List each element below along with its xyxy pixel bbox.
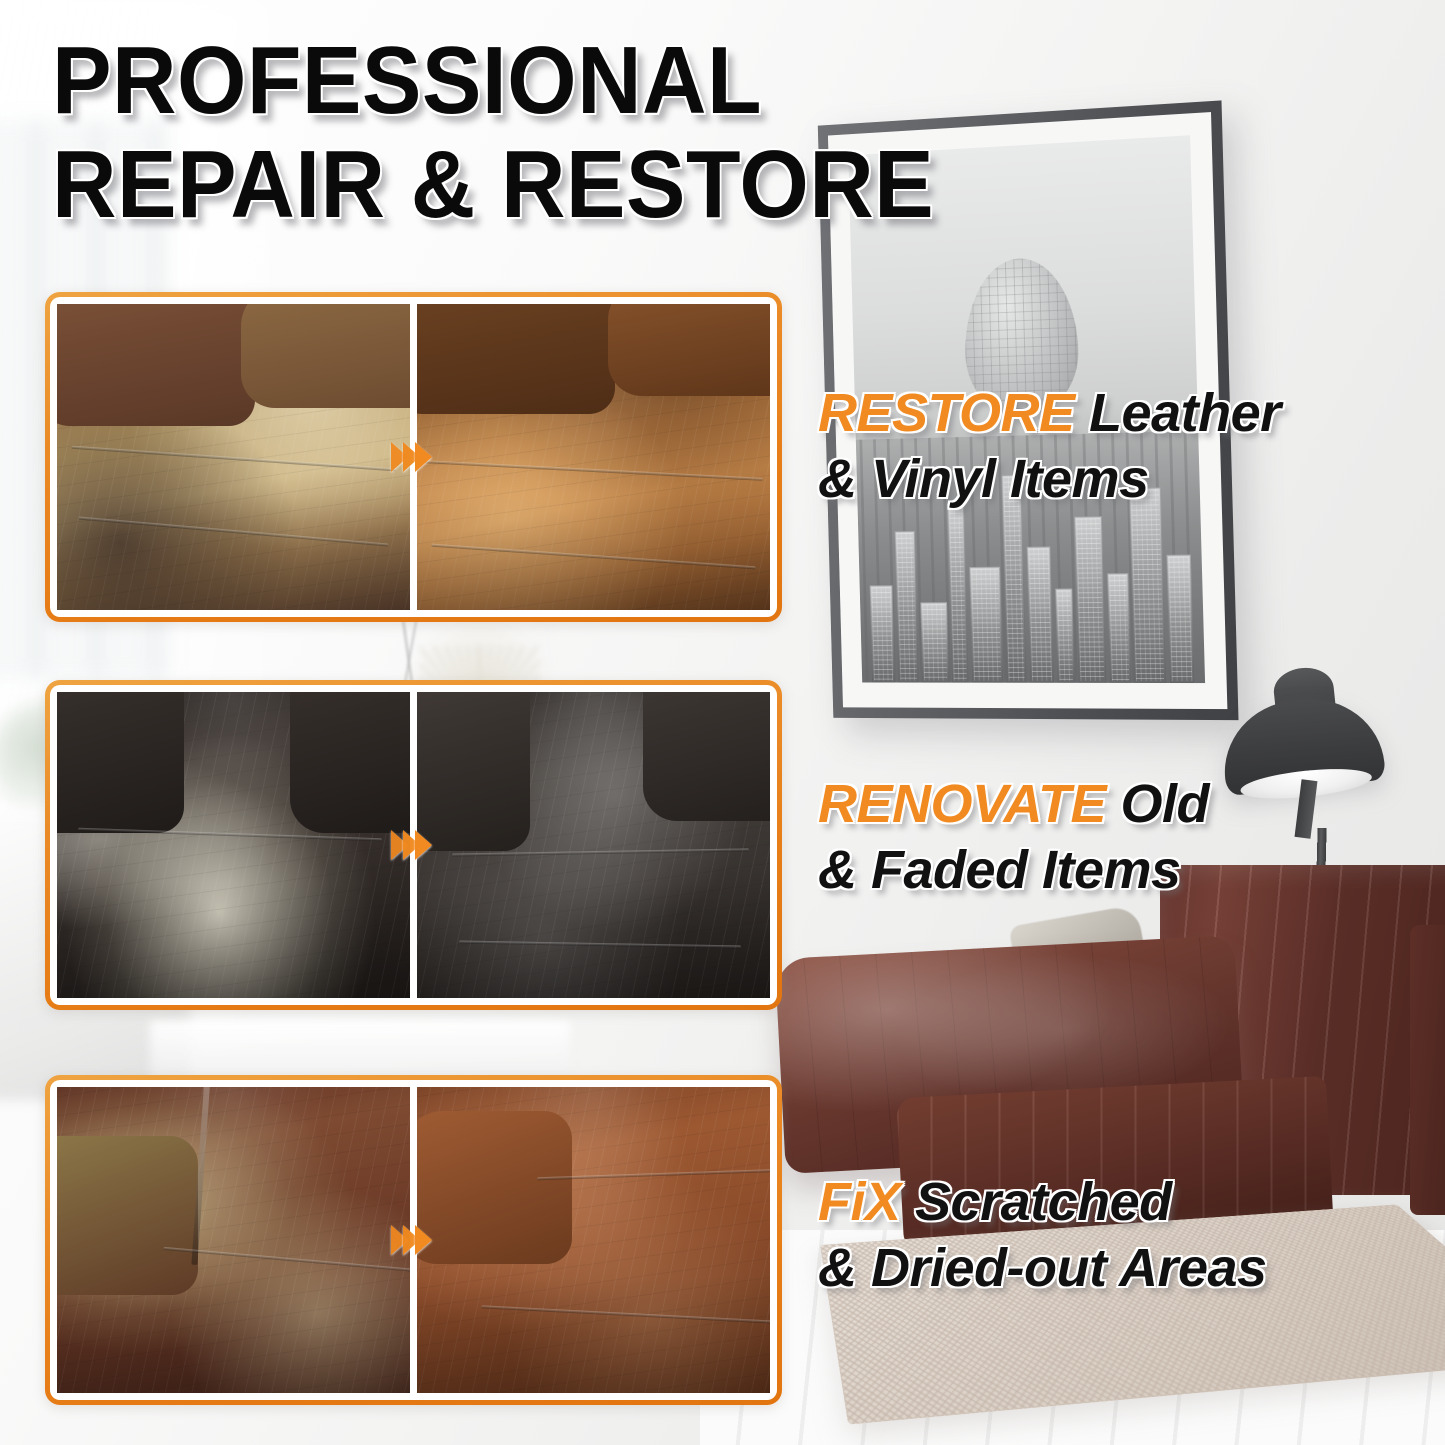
sofa-arm (1410, 925, 1445, 1215)
seam-2 (431, 544, 755, 570)
feature-renovate: RENOVATE Old & Faded Items (818, 774, 1209, 901)
comparison-panel-restore (45, 292, 782, 622)
comparison-panel-fix (45, 1075, 782, 1405)
cushion-back-right (241, 304, 410, 408)
feature-line1-rest: Old (1106, 774, 1209, 834)
seam-1 (452, 849, 749, 857)
seam-1 (537, 1168, 770, 1180)
feature-line2: & Vinyl Items (818, 449, 1281, 509)
armrest-left (417, 692, 530, 851)
after-image-red-brown-sofa (417, 1087, 770, 1393)
cushion-back-left (57, 304, 255, 426)
after-image-tan-sofa (417, 304, 770, 610)
before-image-red-brown-sofa (57, 1087, 410, 1393)
worn-armrest (57, 1136, 198, 1295)
cushion-back-right (608, 304, 770, 396)
armrest (417, 1111, 572, 1264)
feature-line2: & Dried-out Areas (818, 1238, 1267, 1298)
feature-fix: FiX Scratched & Dried-out Areas (818, 1172, 1267, 1299)
armrest-right (290, 692, 410, 833)
seam-2 (481, 1306, 770, 1325)
after-image-dark-recliner (417, 692, 770, 998)
before-image-tan-sofa (57, 304, 410, 610)
feature-line1-rest: Leather (1075, 383, 1281, 443)
headline-line-2: REPAIR & RESTORE (52, 138, 1112, 232)
armrest-right (643, 692, 770, 821)
seam-1 (71, 446, 395, 472)
seam-vertical (192, 1087, 211, 1264)
product-marketing-image: PROFESSIONAL REPAIR & RESTORE (0, 0, 1445, 1445)
feature-keyword-renovate: RENOVATE (818, 774, 1106, 834)
comparison-panel-renovate (45, 680, 782, 1010)
seam-1 (163, 1247, 410, 1272)
before-image-dark-recliner (57, 692, 410, 998)
feature-line1-rest: Scratched (901, 1172, 1172, 1232)
seam-2 (79, 517, 389, 547)
feature-line2: & Faded Items (818, 840, 1209, 900)
seam-1 (78, 827, 381, 841)
page-title: PROFESSIONAL REPAIR & RESTORE (52, 34, 1112, 232)
seam-1 (424, 460, 763, 481)
armrest-left (57, 692, 184, 833)
cushion-back-left (417, 304, 615, 414)
headline-line-1: PROFESSIONAL (52, 34, 1112, 128)
feature-keyword-fix: FiX (818, 1172, 901, 1232)
feature-keyword-restore: RESTORE (818, 383, 1075, 443)
feature-restore: RESTORE Leather & Vinyl Items (818, 383, 1281, 510)
seam-2 (459, 940, 741, 948)
